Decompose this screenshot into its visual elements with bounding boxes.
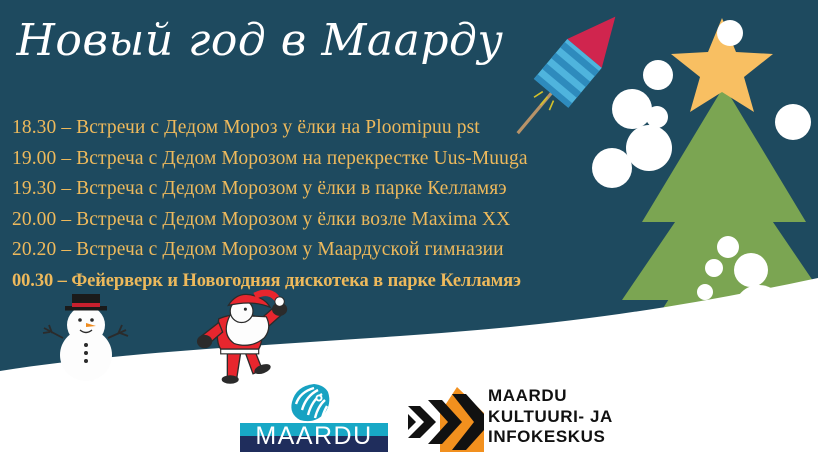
snowball (697, 284, 713, 300)
kultuuri-line-1: MAARDU (488, 386, 613, 407)
event-list-item: 20.00 – Встреча с Дедом Морозом у ёлки в… (12, 205, 612, 236)
kultuuri-mark-icon (400, 384, 484, 454)
santa-eye (244, 308, 247, 311)
kultuuri-wordmark: MAARDU KULTUURI- JA INFOKESKUS (488, 386, 613, 448)
snowball (734, 253, 768, 287)
snowman-button (84, 343, 88, 347)
snowball (705, 259, 723, 277)
snowball (626, 125, 672, 171)
new-year-poster: Новый год в Маарду 18.30 – Встречи с Дед… (0, 0, 818, 460)
kultuuri-infokeskus-logo: MAARDU KULTUURI- JA INFOKESKUS (400, 384, 632, 456)
snowball (717, 236, 739, 258)
snowball (775, 104, 811, 140)
chevron-solid (408, 414, 416, 430)
snowman-eye-right (90, 318, 94, 322)
event-list-item: 20.20 – Встреча с Дедом Морозом у Маарду… (12, 235, 612, 266)
snowman-eye-left (78, 318, 82, 322)
maardu-wordmark: MAARDU (255, 422, 372, 450)
snowball (612, 89, 652, 129)
poster-title: Новый год в Маарду (0, 14, 520, 68)
santa-boot-left (222, 375, 239, 384)
snowman-button (84, 351, 88, 355)
event-list-item-highlight: 00.30 – Фейерверк и Новогодняя дискотека… (12, 266, 612, 297)
event-list: 18.30 – Встречи с Дедом Мороз у ёлки на … (12, 113, 612, 296)
event-list-item: 19.30 – Встреча с Дедом Морозом у ёлки в… (12, 174, 612, 205)
event-list-item: 19.00 – Встреча с Дедом Морозом на перек… (12, 144, 612, 175)
event-list-item: 18.30 – Встречи с Дедом Мороз у ёлки на … (12, 113, 612, 144)
maardu-shell-icon (291, 384, 329, 421)
santa-hat-pompom (275, 297, 285, 307)
santa-mitten-left (197, 335, 212, 348)
kultuuri-line-2: KULTUURI- JA (488, 407, 613, 428)
maardu-city-logo: MAARDU (240, 382, 388, 452)
snowman-button (84, 359, 88, 363)
snowball (717, 20, 743, 46)
kultuuri-line-3: INFOKESKUS (488, 427, 613, 448)
snowball (643, 60, 673, 90)
